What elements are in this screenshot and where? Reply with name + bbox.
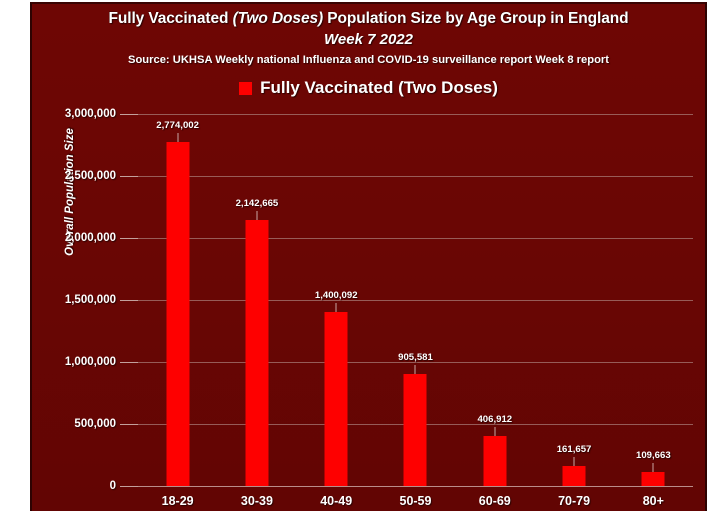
chart-title-block: Fully Vaccinated (Two Doses) Population … [32,9,705,70]
bar-value-leader-line [653,463,654,472]
y-axis-tick-label: 2,000,000 [65,232,116,244]
bar-group-50-59[interactable]: 905,58150-59 [376,114,455,486]
bar-group-40-49[interactable]: 1,400,09240-49 [297,114,376,486]
x-axis-tick-label: 50-59 [399,494,431,508]
chart-legend: Fully Vaccinated (Two Doses) [32,78,705,98]
bar-value-label: 109,663 [636,450,671,461]
y-axis-tick-label: 2,500,000 [65,170,116,182]
bar-value-label: 905,581 [398,352,433,363]
y-axis-tick-label: 500,000 [74,418,116,430]
y-axis-tick-label: 1,000,000 [65,356,116,368]
bar[interactable] [325,312,348,486]
bar-value-leader-line [415,365,416,374]
y-axis-tick-label: 0 [110,480,116,492]
bar-group-18-29[interactable]: 2,774,00218-29 [138,114,217,486]
y-axis-tick [120,300,138,301]
bar-value-label: 2,774,002 [156,120,199,131]
bar-value-leader-line [336,303,337,312]
x-axis-tick-label: 40-49 [320,494,352,508]
bar-value-leader-line [574,457,575,466]
bar-value-label: 2,142,665 [236,198,279,209]
y-axis-tick [120,114,138,115]
bar-value-leader-line [494,427,495,436]
bar-group-80+[interactable]: 109,66380+ [614,114,693,486]
x-axis-tick-label: 18-29 [162,494,194,508]
y-axis-tick [120,238,138,239]
plot-area: 0500,0001,000,0001,500,0002,000,0002,500… [138,114,693,486]
bar-group-30-39[interactable]: 2,142,66530-39 [217,114,296,486]
y-axis-tick [120,424,138,425]
bar-value-label: 406,912 [477,414,512,425]
x-axis-tick-label: 30-39 [241,494,273,508]
bar[interactable] [483,436,506,486]
bar[interactable] [166,142,189,486]
bar[interactable] [642,472,665,486]
y-axis-title: Overall Population Size [64,92,76,292]
gridline [138,486,693,487]
bar[interactable] [563,466,586,486]
chart-container: Fully Vaccinated (Two Doses) Population … [30,2,707,511]
chart-title-part-a: Fully Vaccinated [109,10,233,27]
y-axis-tick [120,362,138,363]
bar-value-label: 1,400,092 [315,290,358,301]
y-axis-tick [120,176,138,177]
x-axis-tick-label: 70-79 [558,494,590,508]
bar-value-label: 161,657 [557,444,592,455]
bar-group-60-69[interactable]: 406,91260-69 [455,114,534,486]
bar-value-leader-line [256,211,257,220]
bar-group-70-79[interactable]: 161,65770-79 [534,114,613,486]
y-axis-tick-label: 3,000,000 [65,108,116,120]
chart-title-line-1: Fully Vaccinated (Two Doses) Population … [32,9,705,29]
chart-title-line-2: Week 7 2022 [32,29,705,50]
bar[interactable] [245,220,268,486]
x-axis-tick-label: 80+ [643,494,664,508]
bar[interactable] [404,374,427,486]
y-axis-tick [120,486,138,487]
y-axis-tick-label: 1,500,000 [65,294,116,306]
x-axis-tick-label: 60-69 [479,494,511,508]
bar-value-leader-line [177,133,178,142]
chart-title-part-italic: (Two Doses) [233,10,323,27]
legend-square-icon [239,82,252,95]
chart-source-subtitle: Source: UKHSA Weekly national Influenza … [32,50,705,70]
chart-title-part-b: Population Size by Age Group in England [323,10,628,27]
legend-label: Fully Vaccinated (Two Doses) [260,78,498,98]
